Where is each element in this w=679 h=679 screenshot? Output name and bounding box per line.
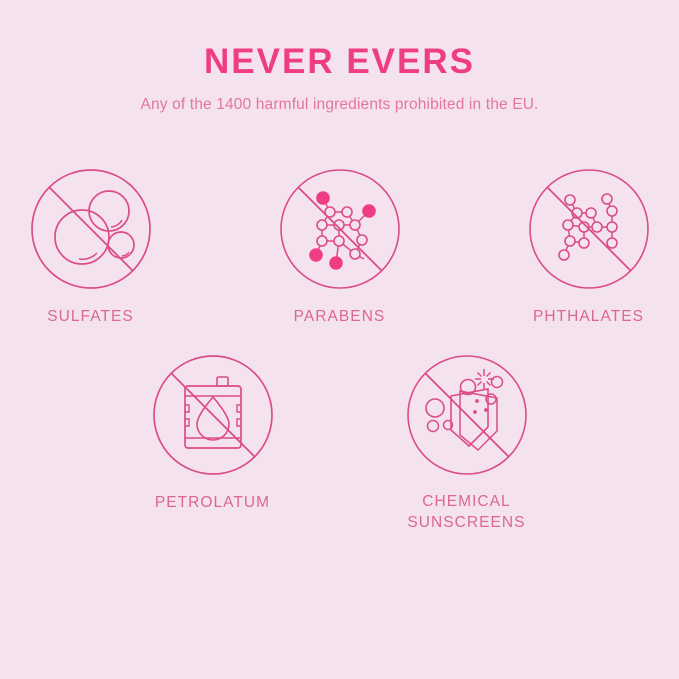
grid-item-label: PHTHALATES — [533, 307, 644, 327]
no-petrolatum-barrel-icon — [151, 353, 275, 477]
grid-item-label: SULFATES — [47, 307, 134, 327]
no-chemical-sunscreens-shield-icon — [405, 353, 529, 477]
never-evers-infographic: NEVER EVERS Any of the 1400 harmful ingr… — [0, 0, 679, 679]
no-parabens-molecule-icon — [278, 167, 402, 291]
grid-item-parabens: PARABENS — [249, 167, 430, 327]
page-subtitle: Any of the 1400 harmful ingredients proh… — [0, 96, 679, 115]
no-sulfates-bubbles-icon — [29, 167, 153, 291]
grid-row-2: PETROLATUM — [0, 353, 679, 533]
page-title: NEVER EVERS — [0, 44, 679, 79]
never-evers-grid: SULFATES — [0, 167, 679, 533]
grid-item-petrolatum: PETROLATUM — [119, 353, 307, 533]
grid-row-1: SULFATES — [0, 167, 679, 327]
header: NEVER EVERS Any of the 1400 harmful ingr… — [0, 0, 679, 115]
grid-item-label: PARABENS — [294, 307, 386, 327]
grid-item-chemical-sunscreens: CHEMICAL SUNSCREENS — [373, 353, 561, 533]
no-phthalates-molecule-icon — [527, 167, 651, 291]
grid-item-phthalates: PHTHALATES — [498, 167, 679, 327]
grid-item-label: PETROLATUM — [155, 493, 270, 513]
grid-item-label: CHEMICAL SUNSCREENS — [407, 492, 525, 533]
grid-item-sulfates: SULFATES — [0, 167, 181, 327]
